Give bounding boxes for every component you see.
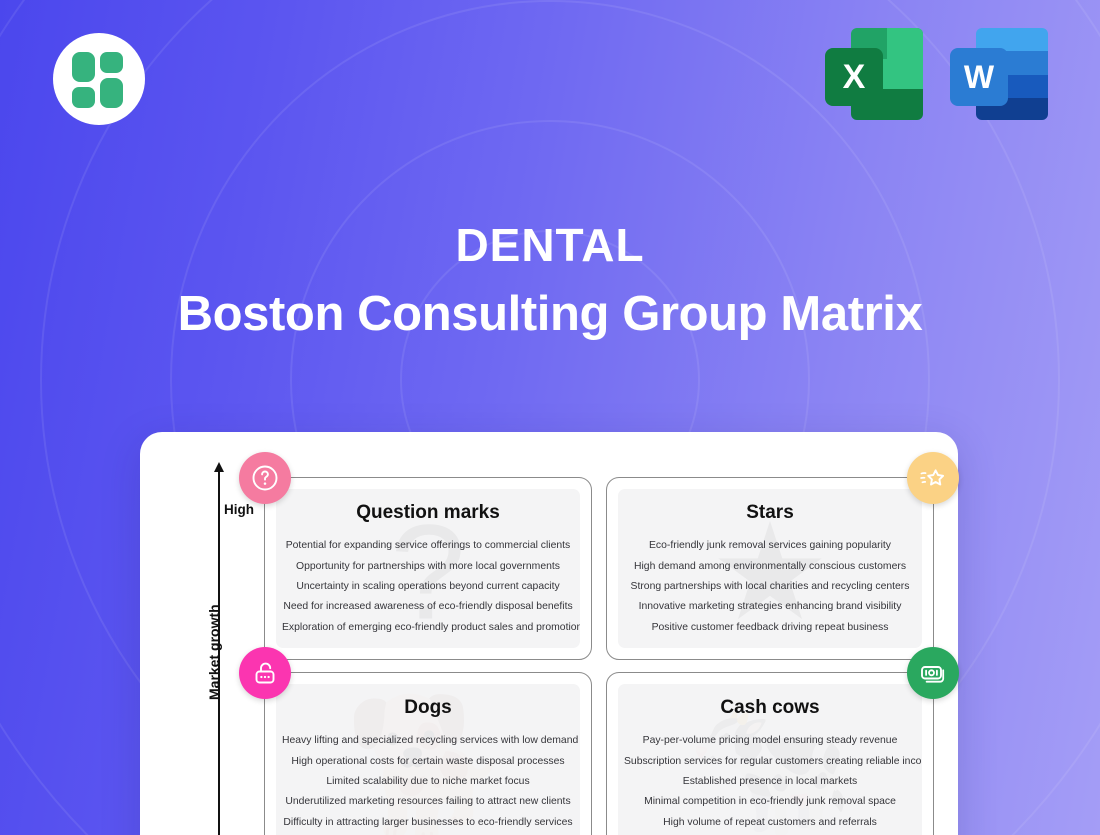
quadrant-stars[interactable]: ★ Stars Eco-friendly junk removal servic… <box>606 477 934 660</box>
list-item: Difficulty in attracting larger business… <box>276 813 580 833</box>
y-axis: High Market growth <box>176 462 238 835</box>
quadrant-inner: 🐄 Cash cows Pay-per-volume pricing model… <box>618 684 922 835</box>
banknotes-icon <box>907 647 959 699</box>
list-item: Need for increased awareness of eco-frie… <box>276 597 580 617</box>
quadrant-inner: ★ Stars Eco-friendly junk removal servic… <box>618 489 922 648</box>
page-title: Boston Consulting Group Matrix <box>0 290 1100 339</box>
quadrant-item-list: Heavy lifting and specialized recycling … <box>276 731 580 833</box>
excel-icon: X <box>825 28 923 120</box>
brand-logo <box>53 33 145 125</box>
list-item: Innovative marketing strategies enhancin… <box>618 597 922 617</box>
quadrant-dogs[interactable]: 🐕 Dogs Heavy lifting and specialized rec… <box>264 672 592 835</box>
question-mark-circle-icon <box>239 452 291 504</box>
list-item: Eco-friendly junk removal services gaini… <box>618 536 922 556</box>
list-item: High operational costs for certain waste… <box>276 751 580 771</box>
logo-cell <box>72 52 95 82</box>
office-icon-group: X W <box>825 28 1048 120</box>
bcg-matrix-card: High Market growth ? Question marks P <box>140 432 958 835</box>
axis-title-label: Market growth <box>206 604 222 700</box>
excel-icon-letter: X <box>825 48 883 106</box>
quadrant-title: Question marks <box>356 502 500 524</box>
list-item: Underutilized marketing resources failin… <box>276 792 580 812</box>
quadrant-title: Dogs <box>404 697 452 719</box>
quadrant-title: Cash cows <box>720 697 819 719</box>
excel-icon-corner <box>887 28 923 59</box>
open-padlock-icon <box>239 647 291 699</box>
list-item: Uncertainty in scaling operations beyond… <box>276 577 580 597</box>
list-item: Established presence in local markets <box>618 772 922 792</box>
quadrant-item-list: Pay-per-volume pricing model ensuring st… <box>618 731 922 833</box>
quadrant-cash-cows[interactable]: 🐄 Cash cows Pay-per-volume pricing model… <box>606 672 934 835</box>
subject-title: DENTAL <box>0 222 1100 268</box>
list-item: High demand among environmentally consci… <box>618 556 922 576</box>
logo-cell <box>72 87 95 108</box>
quadrant-question-marks[interactable]: ? Question marks Potential for expanding… <box>264 477 592 660</box>
word-icon-letter: W <box>950 48 1008 106</box>
slide-canvas: X W DENTAL Boston Consulting Group Matri… <box>0 0 1100 835</box>
list-item: Heavy lifting and specialized recycling … <box>276 731 580 751</box>
logo-cell <box>100 52 123 73</box>
list-item: Potential for expanding service offering… <box>276 536 580 556</box>
logo-cell <box>100 78 123 108</box>
quadrant-inner: ? Question marks Potential for expanding… <box>276 489 580 648</box>
list-item: Limited scalability due to niche market … <box>276 772 580 792</box>
quadrant-item-list: Potential for expanding service offering… <box>276 536 580 638</box>
quadrant-inner: 🐕 Dogs Heavy lifting and specialized rec… <box>276 684 580 835</box>
quadrant-item-list: Eco-friendly junk removal services gaini… <box>618 536 922 638</box>
title-block: DENTAL Boston Consulting Group Matrix <box>0 222 1100 339</box>
quadrant-title: Stars <box>746 502 794 524</box>
list-item: Subscription services for regular custom… <box>618 751 922 771</box>
star-icon <box>907 452 959 504</box>
list-item: Pay-per-volume pricing model ensuring st… <box>618 731 922 751</box>
list-item: Positive customer feedback driving repea… <box>618 618 922 638</box>
axis-high-label: High <box>224 502 254 517</box>
list-item: Opportunity for partnerships with more l… <box>276 556 580 576</box>
list-item: High volume of repeat customers and refe… <box>618 813 922 833</box>
quadrant-grid: ? Question marks Potential for expanding… <box>264 477 934 835</box>
list-item: Exploration of emerging eco-friendly pro… <box>276 618 580 638</box>
list-item: Minimal competition in eco-friendly junk… <box>618 792 922 812</box>
word-icon: W <box>950 28 1048 120</box>
grid-squares-logo-icon <box>72 52 126 106</box>
list-item: Strong partnerships with local charities… <box>618 577 922 597</box>
